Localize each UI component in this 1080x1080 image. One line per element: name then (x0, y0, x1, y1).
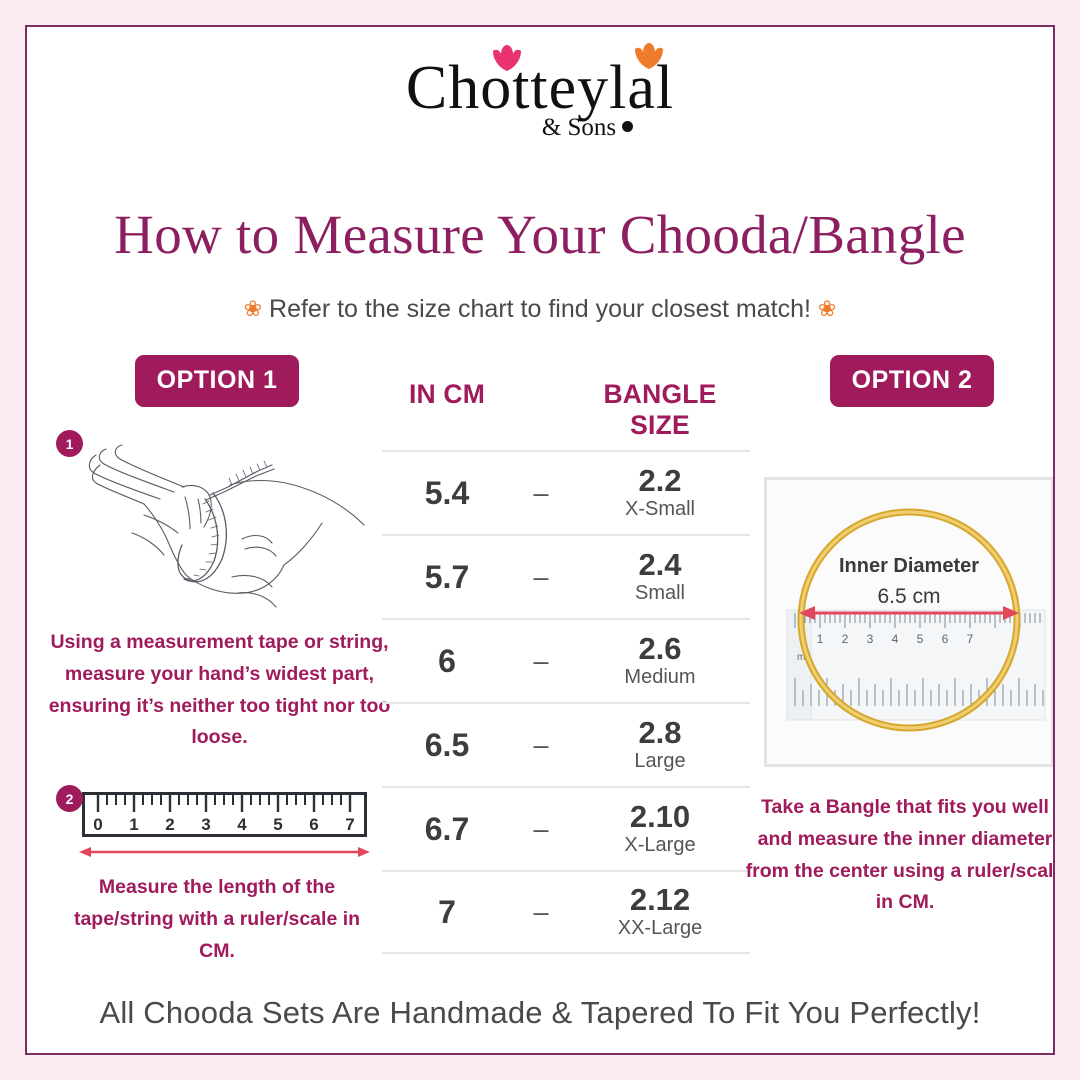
cell-size-label: Medium (570, 665, 750, 689)
logo-dot (622, 121, 633, 132)
brand-name: Chotteylal (406, 57, 674, 119)
cell-dash: – (512, 478, 570, 509)
cell-size-label: X-Large (570, 833, 750, 857)
logo-wordmark: Chotteylal & Sons (406, 57, 674, 140)
cell-size-number: 2.4 (570, 549, 750, 582)
option1-step1-caption: Using a measurement tape or string, meas… (47, 627, 392, 754)
column-header-size: BANGLE SIZE (570, 379, 750, 441)
option1-badge-container: OPTION 1 (72, 355, 362, 407)
table-header-row: IN CM BANGLE SIZE (382, 379, 750, 450)
cell-size-number: 2.6 (570, 633, 750, 666)
cell-size: 2.10 X-Large (570, 801, 750, 858)
subtitle-text: Refer to the size chart to find your clo… (269, 295, 811, 323)
tulip-left-icon: ❀ (244, 296, 262, 321)
cell-dash: – (512, 897, 570, 928)
cell-cm: 6 (382, 643, 512, 680)
svg-text:1: 1 (817, 632, 824, 646)
tulip-right-icon: ❀ (818, 296, 836, 321)
option2-caption: Take a Bangle that fits you well and mea… (745, 792, 1055, 919)
cell-size: 2.12 XX-Large (570, 884, 750, 941)
page-title: How to Measure Your Chooda/Bangle (27, 203, 1053, 266)
cell-dash: – (512, 646, 570, 677)
cell-size-label: Large (570, 749, 750, 773)
cell-size-number: 2.10 (570, 801, 750, 834)
svg-text:4: 4 (892, 632, 899, 646)
cell-size-label: Small (570, 581, 750, 605)
svg-text:2: 2 (842, 632, 849, 646)
ruler-tick-0: 0 (93, 815, 102, 834)
size-chart-table: IN CM BANGLE SIZE 5.4 – 2.2 X-Small 5.7 … (382, 379, 750, 954)
brand-logo: Chotteylal & Sons (27, 57, 1053, 140)
cell-size-number: 2.12 (570, 884, 750, 917)
cell-size-label: X-Small (570, 497, 750, 521)
table-row: 7 – 2.12 XX-Large (382, 870, 750, 954)
table-row: 6 – 2.6 Medium (382, 618, 750, 702)
footer-note: All Chooda Sets Are Handmade & Tapered T… (27, 995, 1053, 1031)
table-row: 5.7 – 2.4 Small (382, 534, 750, 618)
cell-size: 2.2 X-Small (570, 465, 750, 522)
svg-text:3: 3 (867, 632, 874, 646)
cell-dash: – (512, 562, 570, 593)
ruler-tick-4: 4 (237, 815, 247, 834)
option2-badge: OPTION 2 (830, 355, 995, 407)
page-subtitle: ❀ Refer to the size chart to find your c… (27, 295, 1053, 324)
column-header-cm: IN CM (382, 379, 512, 410)
cell-size-number: 2.2 (570, 465, 750, 498)
ruler-tick-2: 2 (165, 815, 174, 834)
step-2-number: 2 (56, 785, 83, 812)
cell-cm: 6.5 (382, 727, 512, 764)
option1-step2-caption: Measure the length of the tape/string wi… (72, 872, 362, 967)
cell-cm: 7 (382, 894, 512, 931)
cell-size-label: XX-Large (570, 916, 750, 940)
option2-badge-container: OPTION 2 (767, 355, 1055, 407)
cell-cm: 5.7 (382, 559, 512, 596)
cell-dash: – (512, 730, 570, 761)
ruler-illustration: 0 1 2 3 4 5 6 7 (82, 792, 367, 837)
ruler-tick-5: 5 (273, 815, 282, 834)
ruler-tick-7: 7 (345, 815, 354, 834)
infographic-card: Chotteylal & Sons How to Measure Your Ch… (25, 25, 1055, 1055)
cell-size: 2.6 Medium (570, 633, 750, 690)
step-1-number: 1 (56, 430, 83, 457)
option1-badge: OPTION 1 (135, 355, 300, 407)
cell-cm: 5.4 (382, 475, 512, 512)
svg-text:5: 5 (917, 632, 924, 646)
svg-text:7: 7 (967, 632, 974, 646)
table-row: 6.5 – 2.8 Large (382, 702, 750, 786)
cell-cm: 6.7 (382, 811, 512, 848)
cell-size-number: 2.8 (570, 717, 750, 750)
ruler-tick-6: 6 (309, 815, 318, 834)
bangle-measurement-photo: 123 456 7 m (764, 477, 1054, 767)
ruler-tick-1: 1 (129, 815, 138, 834)
table-row: 5.4 – 2.2 X-Small (382, 450, 750, 534)
cell-size: 2.4 Small (570, 549, 750, 606)
cell-dash: – (512, 814, 570, 845)
cell-size: 2.8 Large (570, 717, 750, 774)
svg-text:6: 6 (942, 632, 949, 646)
hand-measurement-illustration (82, 427, 382, 617)
ruler-tick-3: 3 (201, 815, 210, 834)
table-row: 6.7 – 2.10 X-Large (382, 786, 750, 870)
ruler-measure-arrow (77, 845, 372, 859)
